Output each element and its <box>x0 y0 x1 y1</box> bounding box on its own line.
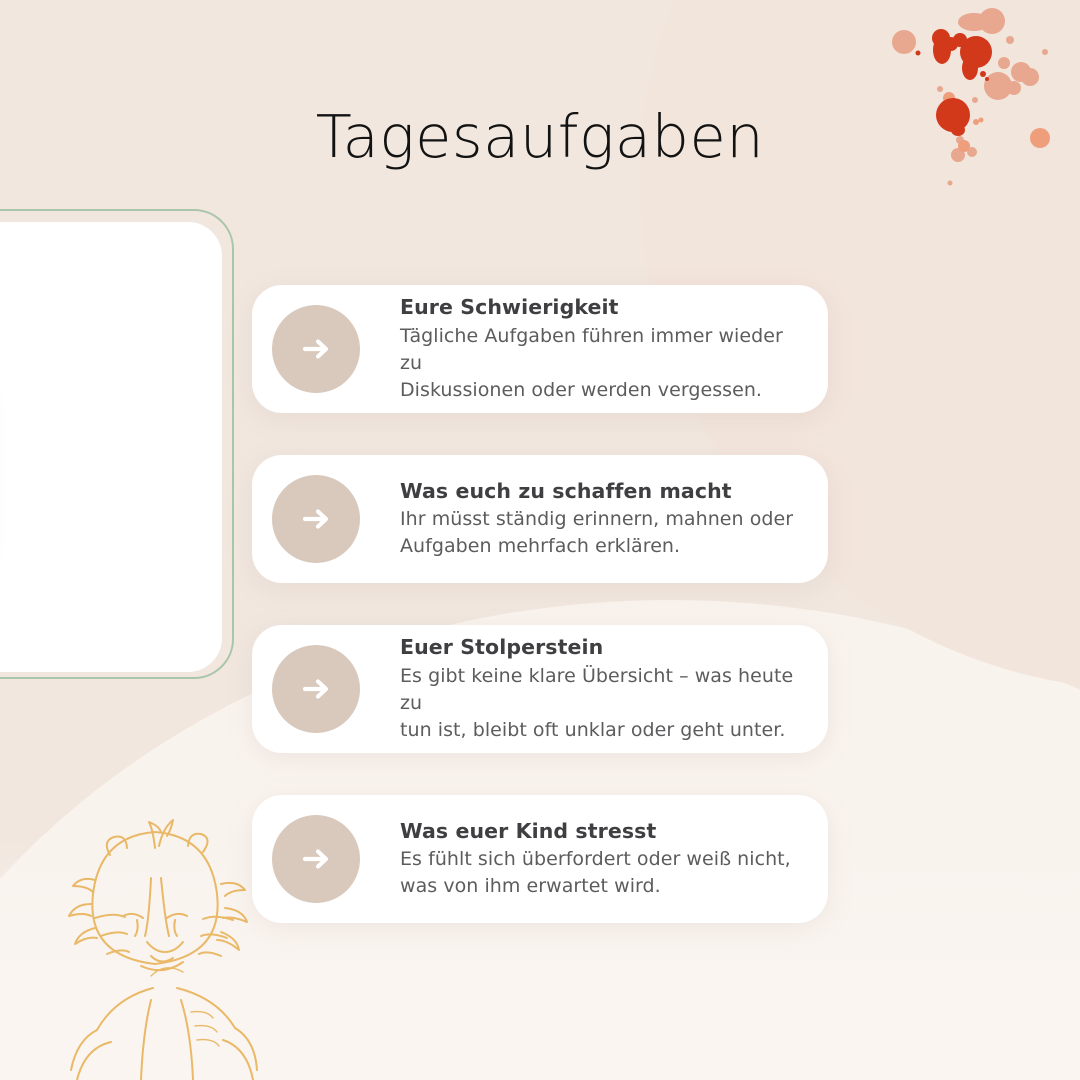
product-image-card: INE TAGESAUFGABEN <box>0 222 222 672</box>
arrow-right-icon[interactable] <box>272 645 360 733</box>
feature-card-description: Tägliche Aufgaben führen immer wieder zu… <box>400 323 808 404</box>
product-photo: INE TAGESAUFGABEN <box>0 367 132 587</box>
feature-card[interactable]: Was euch zu schaffen macht Ihr müsst stä… <box>252 455 828 583</box>
poster-canvas: Tagesaufgaben INE TAGESAUFGABEN <box>0 0 1080 1080</box>
arrow-right-icon[interactable] <box>272 815 360 903</box>
feature-card-description: Ihr müsst ständig erinnern, mahnen oder … <box>400 506 808 560</box>
feature-card-text: Was euer Kind stresst Es fühlt sich über… <box>400 818 828 900</box>
feature-card-text: Was euch zu schaffen macht Ihr müsst stä… <box>400 478 828 560</box>
feature-card-description: Es gibt keine klare Übersicht – was heut… <box>400 663 808 744</box>
lion-line-drawing-icon <box>55 800 275 1080</box>
page-title: Tagesaufgaben <box>0 103 1080 171</box>
feature-card-description: Es fühlt sich überfordert oder weiß nich… <box>400 846 808 900</box>
feature-card[interactable]: Eure Schwierigkeit Tägliche Aufgaben füh… <box>252 285 828 413</box>
arrow-right-icon[interactable] <box>272 305 360 393</box>
arrow-right-icon[interactable] <box>272 475 360 563</box>
feature-card-text: Euer Stolperstein Es gibt keine klare Üb… <box>400 634 828 743</box>
feature-card-title: Euer Stolperstein <box>400 634 808 660</box>
feature-card[interactable]: Euer Stolperstein Es gibt keine klare Üb… <box>252 625 828 753</box>
feature-card[interactable]: Was euer Kind stresst Es fühlt sich über… <box>252 795 828 923</box>
feature-card-title: Was euch zu schaffen macht <box>400 478 808 504</box>
feature-card-title: Was euer Kind stresst <box>400 818 808 844</box>
feature-card-list: Eure Schwierigkeit Tägliche Aufgaben füh… <box>252 285 828 923</box>
feature-card-title: Eure Schwierigkeit <box>400 294 808 320</box>
feature-card-text: Eure Schwierigkeit Tägliche Aufgaben füh… <box>400 294 828 403</box>
